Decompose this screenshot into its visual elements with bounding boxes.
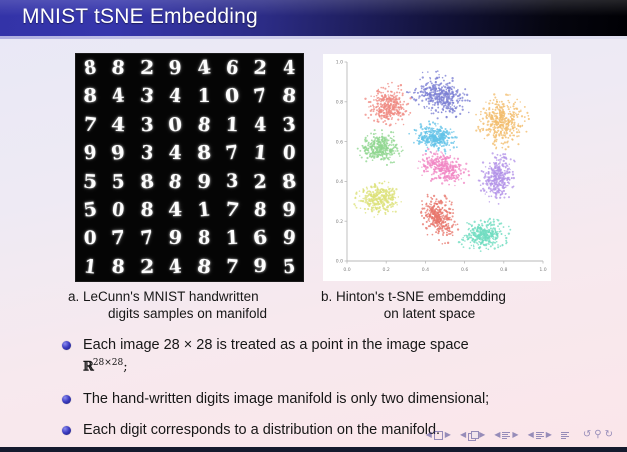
mnist-digit-cell: 5 <box>74 194 106 226</box>
frame-icon[interactable] <box>468 431 477 439</box>
mnist-digit-cell: 2 <box>245 54 275 83</box>
mnist-digit-cell: 9 <box>161 53 190 83</box>
mnist-digit-cell: 8 <box>103 53 133 84</box>
subsection-forward-icon[interactable]: ▶ <box>512 431 518 439</box>
y-tick-label: 0.6 <box>336 139 343 145</box>
bullet-text-2: The hand-written digits image manifold i… <box>83 391 489 407</box>
nav-group-frame[interactable]: ◀ ▶ <box>460 431 485 439</box>
mnist-digit-cell: 8 <box>189 109 219 140</box>
mnist-digit-cell: 7 <box>218 252 247 282</box>
subsection-icon[interactable] <box>502 432 510 439</box>
mnist-digit-cell: 2 <box>245 167 275 197</box>
mnist-digit-cell: 4 <box>160 195 191 224</box>
mnist-digit-cell: 8 <box>187 251 220 283</box>
section-back-icon[interactable]: ◀ <box>528 431 534 439</box>
section-forward-icon[interactable]: ▶ <box>546 431 552 439</box>
mnist-digit-cell: 1 <box>217 110 247 140</box>
bullet-text-3: Each digit corresponds to a distribution… <box>83 422 440 438</box>
bullet-dot-icon <box>62 426 71 435</box>
mnist-digit-cell: 0 <box>216 81 248 111</box>
x-tick-label: 1.0 <box>539 267 546 273</box>
caption-right-line1: b. Hinton's t-SNE embemdding <box>321 288 574 305</box>
mnist-digit-cell: 8 <box>246 195 274 225</box>
mnist-digit-cell: 0 <box>104 195 133 226</box>
mnist-digit-cell: 7 <box>75 109 106 140</box>
mnist-digit-cell: 4 <box>161 139 190 168</box>
mnist-digit-cell: 1 <box>189 195 219 226</box>
mnist-digit-cell: 4 <box>104 81 133 112</box>
mnist-digit-cell: 3 <box>133 138 161 169</box>
mnist-digit-cell: 3 <box>219 168 245 196</box>
mnist-digit-cell: 9 <box>188 167 219 197</box>
mnist-digit-cell: 9 <box>102 137 135 169</box>
title-underline <box>0 36 627 39</box>
mnist-digit-cell: 3 <box>133 110 161 139</box>
mnist-digit-cell: 1 <box>244 138 276 169</box>
nav-group-misc[interactable]: ↺ ⚲ ↻ <box>583 430 613 440</box>
mnist-digit-cell: 4 <box>187 52 220 84</box>
bullet-text-1: Each image 28 × 28 is treated as a point… <box>83 337 469 353</box>
mnist-digit-cell: 8 <box>104 252 134 282</box>
subsection-back-icon[interactable]: ◀ <box>494 431 500 439</box>
mnist-digit-cell: 6 <box>244 223 278 255</box>
mnist-digit-cell: 8 <box>188 138 220 168</box>
mnist-digit-cell: 9 <box>274 196 303 225</box>
slide-back-icon[interactable]: ◀ <box>426 431 432 439</box>
mnist-digit-cell: 7 <box>132 223 163 255</box>
bullet-dot-icon <box>62 341 71 350</box>
mnist-digit-cell: 3 <box>274 110 304 141</box>
mnist-digit-cell: 5 <box>105 167 133 196</box>
mnist-digit-cell: 8 <box>273 81 305 112</box>
frame-back-icon[interactable]: ◀ <box>460 431 466 439</box>
exponent-28x28: 28×28 <box>93 358 123 368</box>
slide-title-bar: MNIST tSNE Embedding <box>0 0 627 36</box>
mnist-digit-cell: 4 <box>103 110 134 139</box>
y-tick-label: 0.0 <box>336 259 343 265</box>
mnist-digit-cell: 1 <box>190 82 218 110</box>
page-title: MNIST tSNE Embedding <box>22 5 258 29</box>
mnist-digit-cell: 8 <box>75 82 105 111</box>
mnist-digit-cell: 1 <box>76 251 105 282</box>
slide-forward-icon[interactable]: ▶ <box>445 431 451 439</box>
mnist-digit-cell: 0 <box>275 139 303 168</box>
mnist-digit-cell: 9 <box>76 138 105 168</box>
nav-group-section[interactable]: ◀ ▶ <box>528 431 552 439</box>
caption-left-line1: a. LeCunn's MNIST handwritten <box>68 288 321 305</box>
nav-group-subsection[interactable]: ◀ ▶ <box>494 431 518 439</box>
mnist-digit-cell: 4 <box>247 111 274 140</box>
bullet-dot-icon <box>62 395 71 404</box>
mnist-digit-cell: 0 <box>159 109 191 140</box>
caption-right-line2: on latent space <box>321 305 574 322</box>
mnist-digit-cell: 5 <box>275 252 303 282</box>
bullet-item-2: The hand-written digits image manifold i… <box>62 390 612 409</box>
mnist-digit-cell: 7 <box>245 81 276 113</box>
mnist-digit-cell: 8 <box>272 166 306 198</box>
mnist-digit-cell: 2 <box>132 54 163 83</box>
mnist-digit-cell: 4 <box>161 81 189 111</box>
mnist-digit-cell: 4 <box>275 54 302 83</box>
mnist-digit-cell: 7 <box>103 223 134 253</box>
nav-group-slide[interactable]: ◀ ▶ <box>426 431 451 440</box>
mnist-digit-cell: 9 <box>160 223 191 254</box>
mnist-digit-cell: 8 <box>132 195 161 224</box>
mnist-digit-cell: 2 <box>132 252 163 281</box>
caption-row: a. LeCunn's MNIST handwritten digits sam… <box>68 288 578 322</box>
y-tick-label: 0.2 <box>336 219 343 225</box>
mnist-digit-cell: 0 <box>76 224 104 252</box>
bullet-math-1: ℝ28×28; <box>83 354 612 376</box>
mnist-digit-cell: 1 <box>217 224 247 254</box>
mnist-digit-cell: 8 <box>131 166 163 197</box>
y-tick-label: 0.8 <box>336 100 343 106</box>
caption-left-line2: digits samples on manifold <box>68 305 321 322</box>
bullet-item-1: Each image 28 × 28 is treated as a point… <box>62 336 612 376</box>
tsne-scatter-plot: 0.00.20.40.60.81.00.00.20.40.60.81.0 <box>323 54 551 281</box>
section-icon[interactable] <box>536 432 544 439</box>
mnist-digit-cell: 7 <box>216 194 249 226</box>
mnist-digit-cell: 5 <box>74 167 106 197</box>
mnist-digit-cell: 9 <box>246 253 275 281</box>
tsne-svg-canvas: 0.00.20.40.60.81.00.00.20.40.60.81.0 <box>323 54 551 281</box>
x-tick-label: 0.6 <box>461 267 468 273</box>
mnist-digit-cell: 8 <box>75 52 105 84</box>
frame-forward-icon[interactable]: ▶ <box>479 431 485 439</box>
figure-captions: a. LeCunn's MNIST handwritten digits sam… <box>68 288 578 322</box>
x-tick-label: 0.8 <box>500 267 507 273</box>
slide: MNIST tSNE Embedding 8829462484341078743… <box>0 0 627 452</box>
search-icon[interactable]: ⚲ <box>594 430 601 440</box>
mnist-digit-cell: 7 <box>217 138 248 170</box>
next-icon[interactable]: ↻ <box>605 430 613 440</box>
y-tick-label: 0.4 <box>336 179 343 185</box>
y-tick-label: 1.0 <box>336 60 343 66</box>
presentation-icon[interactable] <box>561 432 569 439</box>
x-tick-label: 0.0 <box>343 267 350 273</box>
mnist-digit-cell: 6 <box>217 53 247 84</box>
real-numbers-symbol: ℝ <box>83 359 93 374</box>
mnist-digit-cell: 9 <box>274 223 304 254</box>
mnist-digit-cell: 4 <box>160 251 190 282</box>
mnist-digit-grid: 8829462484341078743081439934871055889328… <box>76 54 303 281</box>
caption-right: b. Hinton's t-SNE embemdding on latent s… <box>321 288 574 322</box>
mnist-digit-cell: 8 <box>160 166 191 198</box>
prev-icon[interactable]: ↺ <box>583 430 591 440</box>
beamer-navigation-bar[interactable]: ◀ ▶ ◀ ▶ ◀ ▶ ◀ ▶ ↺ ⚲ ↻ <box>426 430 613 440</box>
semicolon: ; <box>123 359 127 374</box>
caption-left: a. LeCunn's MNIST handwritten digits sam… <box>68 288 321 322</box>
mnist-digit-cell: 3 <box>131 80 164 112</box>
x-tick-label: 0.2 <box>383 267 390 273</box>
x-tick-label: 0.4 <box>422 267 429 273</box>
mnist-digit-cell: 8 <box>190 224 217 253</box>
slide-icon[interactable] <box>434 431 443 440</box>
